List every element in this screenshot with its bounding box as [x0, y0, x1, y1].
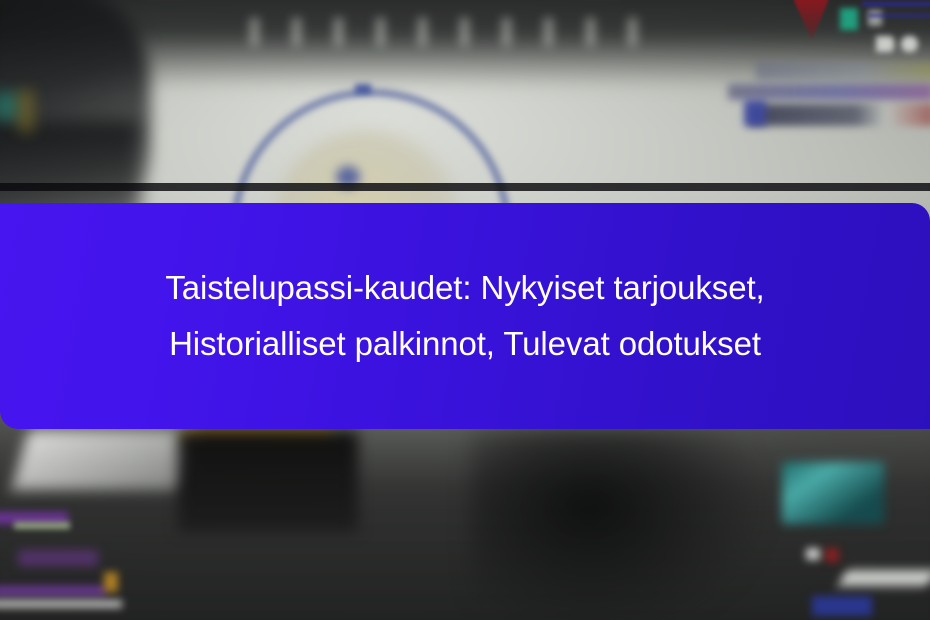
background-hud-line-top: [862, 2, 930, 6]
background-ceiling-lights: [250, 18, 670, 46]
background-hud-panel-first: [756, 62, 930, 80]
title-banner: Taistelupassi-kaudet: Nykyiset tarjoukse…: [0, 203, 930, 429]
screenshot-root: Taistelupassi-kaudet: Nykyiset tarjoukse…: [0, 0, 930, 620]
progress-bar-track[interactable]: [0, 183, 930, 191]
background-lower-white-dot: [806, 548, 820, 560]
background-hud-panel-badge: [744, 100, 766, 126]
background-lower-orange-dot: [104, 572, 118, 592]
background-lower-green-bar: [14, 522, 70, 529]
background-lower-white-panel: [11, 430, 198, 490]
background-hud-panel-second: [728, 84, 930, 100]
background-lower-purple-box: [18, 550, 98, 566]
background-lower-teal-screen: [782, 462, 884, 524]
background-lower-white-line: [0, 600, 122, 608]
background-lower-figure: [470, 430, 770, 620]
background-lower-red-dot: [825, 548, 839, 562]
banner-title-text: Taistelupassi-kaudet: Nykyiset tarjoukse…: [165, 260, 764, 372]
background-lower-white-streak: [839, 570, 930, 586]
background-hud-panel-third: [748, 104, 930, 126]
background-ring-top-marker: [355, 84, 371, 94]
background-teal-accent: [0, 92, 18, 120]
background-yellow-accent: [18, 90, 34, 132]
background-lower-purple-line: [0, 586, 106, 596]
background-hud-dots: [876, 36, 930, 52]
background-lower-dark-screen: [178, 432, 358, 532]
background-lower-blue-chip: [812, 596, 872, 616]
background-white-indicator: [868, 10, 882, 26]
background-hud-line-second: [868, 14, 930, 17]
background-green-indicator: [840, 8, 858, 30]
